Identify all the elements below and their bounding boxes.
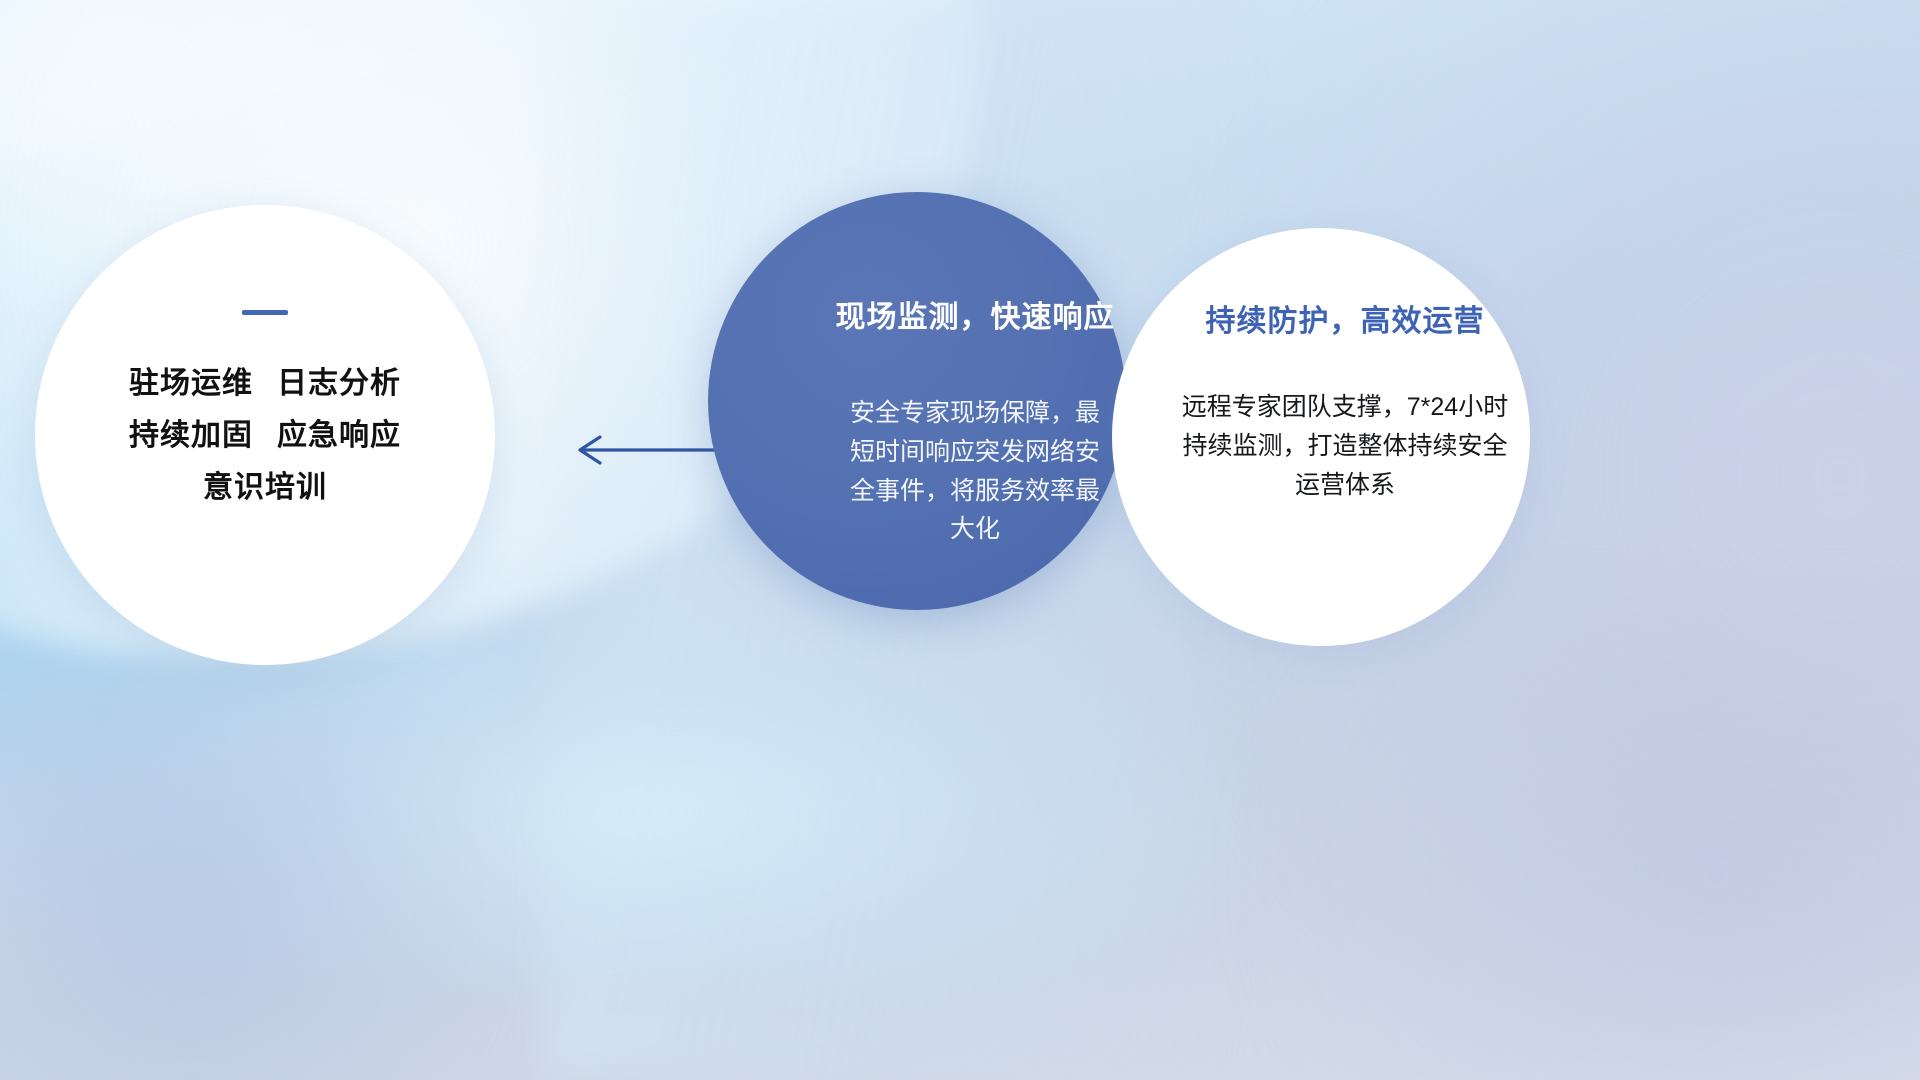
capability-label: 日志分析 — [277, 367, 401, 400]
middle-circle-title: 现场监测，快速响应 — [836, 292, 1115, 336]
blue-dash-divider — [242, 310, 288, 315]
middle-circle-body: 安全专家现场保障，最短时间响应突发网络安全事件，将服务效率最大化 — [840, 394, 1110, 549]
right-circle-title: 持续防护，高效运营 — [1206, 296, 1485, 340]
list-item: 驻场运维日志分析 — [129, 367, 401, 400]
capability-circle-left: 驻场运维日志分析 持续加固应急响应 意识培训 — [35, 205, 495, 665]
capability-label: 持续加固 — [129, 419, 253, 452]
slide-canvas: 驻场运维日志分析 持续加固应急响应 意识培训 现场监测，快速响应 安全专家现场保… — [0, 0, 1920, 1080]
capability-label: 意识培训 — [203, 471, 327, 504]
capability-list: 驻场运维日志分析 持续加固应急响应 意识培训 — [129, 367, 401, 504]
right-circle-body: 远程专家团队支撑，7*24小时持续监测，打造整体持续安全运营体系 — [1180, 388, 1510, 504]
list-item: 持续加固应急响应 — [129, 419, 401, 452]
capability-label: 驻场运维 — [129, 367, 253, 400]
background-right-corner-wash — [1240, 580, 1920, 1080]
capability-circle-right: 持续防护，高效运营 远程专家团队支撑，7*24小时持续监测，打造整体持续安全运营… — [1112, 228, 1530, 646]
list-item: 意识培训 — [203, 471, 327, 504]
capability-circle-middle: 现场监测，快速响应 安全专家现场保障，最短时间响应突发网络安全事件，将服务效率最… — [708, 192, 1126, 610]
background-left-bottom-tint — [0, 680, 500, 1080]
capability-label: 应急响应 — [277, 419, 401, 452]
